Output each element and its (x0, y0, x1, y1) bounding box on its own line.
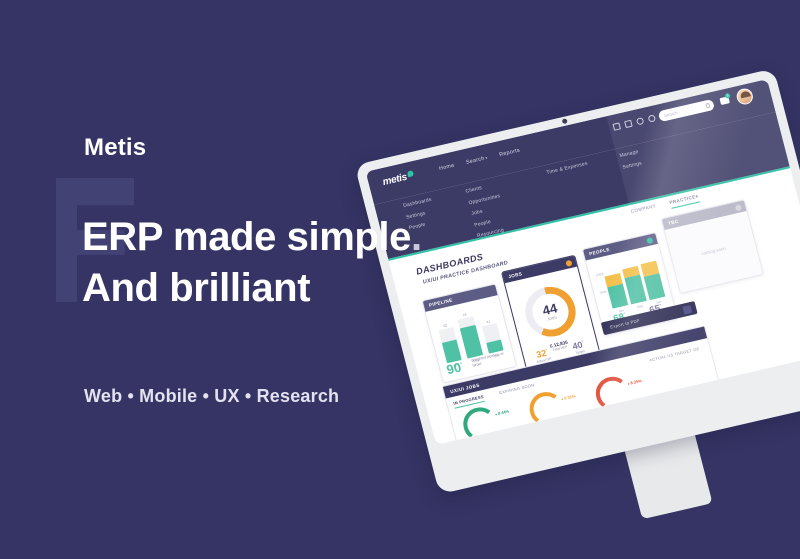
pipeline-bar-1: 62 (439, 327, 462, 363)
mini-gauge-2: 0 31% (526, 389, 564, 414)
search-placeholder: Search (663, 110, 678, 118)
chevron-down-icon: ▾ (695, 194, 699, 199)
card-people-header: PEOPLE (583, 233, 658, 260)
menu-item-dashboards[interactable]: Dashboards (403, 197, 433, 209)
pipeline-bar-3: 41 (482, 323, 504, 354)
headline-period: . (411, 215, 422, 259)
tab-practice[interactable]: PRACTICE▾ (669, 194, 700, 209)
export-label: Export to PDF (610, 318, 641, 330)
status-badge (735, 204, 742, 211)
pipeline-bar-1-label: 62 (437, 322, 453, 329)
headline-line-1: ERP made simple (82, 215, 411, 259)
poster-canvas: Metis ERP made simple. And brilliant Web… (0, 0, 800, 559)
pipeline-bar-3-label: 41 (480, 318, 496, 325)
nav-item-home[interactable]: Home (438, 163, 455, 172)
webcam-icon (562, 118, 568, 124)
services-list: Web • Mobile • UX • Research (84, 386, 339, 407)
menu-item-clients[interactable]: Clients (465, 182, 498, 195)
mini-gauge-3: 8 25% (592, 373, 630, 398)
status-badge (565, 259, 572, 266)
headline-line-2: And brilliant (82, 263, 422, 314)
tab-company[interactable]: COMPANY (630, 203, 657, 217)
jobs-gauge: 44 JOBS (520, 282, 581, 342)
people-gridlabel-2: 50% (600, 290, 607, 295)
app-main-nav[interactable]: Home Search▾ Reports (438, 148, 520, 172)
page-title: ERP made simple. And brilliant (82, 212, 422, 314)
menu-item-opportunities[interactable]: Opportunities (468, 193, 501, 206)
logo-swoosh-icon (406, 170, 413, 177)
search-icon (705, 103, 711, 108)
menu-item-time-expenses[interactable]: Time & Expenses (546, 161, 588, 176)
megamenu-column-3[interactable]: Time & Expenses (546, 161, 590, 182)
mini-gauge-1: 8 44% (460, 404, 498, 429)
pipeline-kpi: 90° (445, 359, 465, 377)
nav-item-reports[interactable]: Reports (499, 148, 521, 159)
menu-item-settings-2[interactable]: Settings (622, 160, 643, 170)
card-pipeline-header: PIPELINE (423, 285, 498, 312)
card-placeholder[interactable]: TBC coming soon (661, 199, 764, 294)
pipeline-bar-2-label: 78 (457, 311, 473, 318)
card-placeholder-empty-text: coming soon (672, 239, 755, 263)
nav-item-search[interactable]: Search▾ (465, 155, 488, 166)
app-logo-text: metis (381, 172, 408, 188)
chevron-down-icon: ▾ (485, 155, 489, 160)
pipeline-bar-2: 78 (458, 316, 483, 358)
jobs-gauge-unit: JOBS (547, 315, 557, 321)
app-logo[interactable]: metis (381, 170, 415, 188)
brand-name: Metis (84, 134, 146, 162)
menu-item-jobs[interactable]: Jobs (471, 204, 504, 217)
card-jobs-header: JOBS (502, 256, 577, 283)
menu-item-people-2[interactable]: People (474, 215, 507, 228)
status-badge (646, 236, 653, 243)
card-pipeline[interactable]: PIPELINE 62 78 41 (422, 283, 518, 383)
export-icon[interactable] (682, 305, 692, 315)
